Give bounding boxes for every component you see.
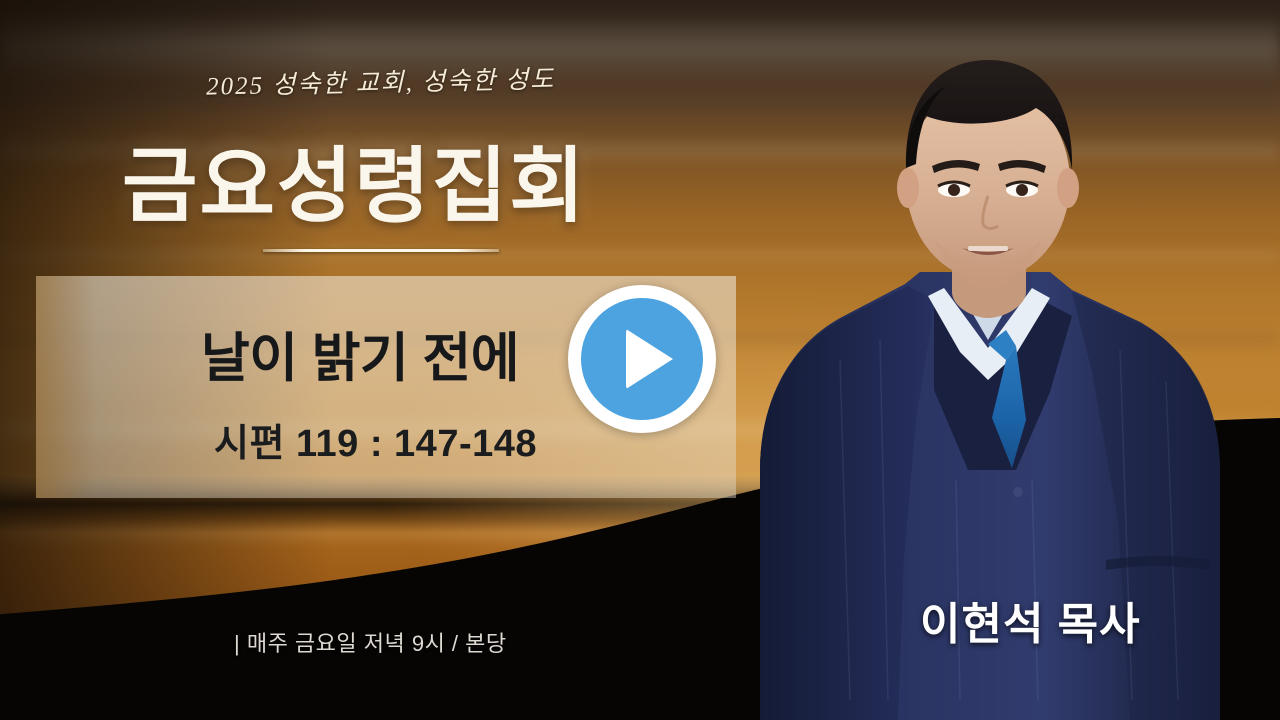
scripture-reference: 시편 119 : 147-148 [214, 412, 537, 467]
schedule-note: | 매주 금요일 저녁 9시 / 본당 [234, 626, 507, 658]
page-title: 금요성령집회 [122, 119, 587, 238]
title-divider [263, 249, 499, 252]
sermon-title: 날이 밝기 전에 [201, 316, 519, 392]
play-icon [626, 329, 673, 389]
event-tagline: 2025 성숙한 교회, 성숙한 성도 [206, 59, 556, 102]
video-thumbnail-frame: 2025 성숙한 교회, 성숙한 성도 금요성령집회 날이 밝기 전에 시편 1… [0, 0, 1280, 720]
play-button-circle [581, 298, 703, 420]
play-button[interactable] [568, 285, 716, 433]
content-panel-left-fade [36, 276, 96, 498]
speaker-name: 이현석 목사 [920, 588, 1141, 652]
